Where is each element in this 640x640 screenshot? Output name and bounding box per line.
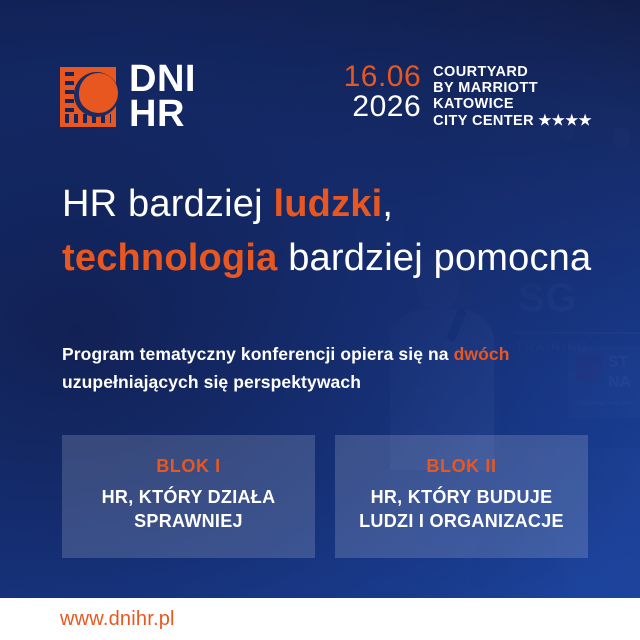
- event-date-day: 16.06: [344, 62, 422, 92]
- program-blocks: BLOK I HR, KTÓRY DZIAŁA SPRAWNIEJ BLOK I…: [62, 435, 588, 558]
- block-1-title: HR, KTÓRY DZIAŁA SPRAWNIEJ: [102, 486, 276, 532]
- footer-bar: www.dnihr.pl: [0, 598, 640, 640]
- headline-part-1: HR bardziej: [62, 183, 273, 225]
- brand-wordmark: DNI HR: [129, 62, 196, 132]
- website-url[interactable]: www.dnihr.pl: [60, 608, 175, 631]
- event-date: 16.06 2026: [344, 62, 422, 122]
- block-2-tag: BLOK II: [426, 456, 496, 477]
- block-2-title: HR, KTÓRY BUDUJE LUDZI I ORGANIZACJE: [359, 486, 564, 532]
- block-1-title-line1: HR, KTÓRY DZIAŁA: [102, 487, 276, 507]
- subtitle: Program tematyczny konferencji opiera si…: [62, 340, 532, 397]
- program-block-2[interactable]: BLOK II HR, KTÓRY BUDUJE LUDZI I ORGANIZ…: [335, 435, 588, 558]
- headline-part-2: ,: [382, 183, 393, 225]
- brand-name-line1: DNI: [129, 62, 196, 97]
- block-1-tag: BLOK I: [156, 456, 221, 477]
- headline-accent-2: technologia: [62, 237, 277, 279]
- headline-part-3: bardziej pomocna: [277, 237, 591, 279]
- brand-name-line2: HR: [129, 97, 196, 132]
- block-2-title-line1: HR, KTÓRY BUDUJE: [371, 487, 553, 507]
- event-venue: COURTYARD BY MARRIOTT KATOWICE CITY CENT…: [433, 62, 592, 129]
- venue-line-2: BY MARRIOTT: [433, 80, 592, 96]
- brand-logo[interactable]: DNI HR: [60, 62, 196, 132]
- promo-banner: SG TRAINING ST NA szkolenia - wdroże: [0, 0, 640, 640]
- content-layer: DNI HR 16.06 2026 COURTYARD BY MARRIOTT …: [0, 0, 640, 640]
- venue-line-1: COURTYARD: [433, 64, 592, 80]
- headline-accent-1: ludzki: [273, 183, 382, 225]
- subtitle-part-1: Program tematyczny konferencji opiera si…: [62, 344, 454, 364]
- gear-circle-icon: [60, 67, 116, 127]
- headline: HR bardziej ludzki, technologia bardziej…: [62, 178, 607, 286]
- subtitle-accent: dwóch: [454, 344, 510, 364]
- event-date-year: 2026: [344, 92, 422, 122]
- venue-line-4: CITY CENTER ★★★★: [433, 113, 592, 129]
- block-1-title-line2: SPRAWNIEJ: [134, 511, 243, 531]
- block-2-title-line2: LUDZI I ORGANIZACJE: [359, 511, 564, 531]
- subtitle-part-2: uzupełniających się perspektywach: [62, 372, 361, 392]
- venue-line-3: KATOWICE: [433, 96, 592, 112]
- program-block-1[interactable]: BLOK I HR, KTÓRY DZIAŁA SPRAWNIEJ: [62, 435, 315, 558]
- event-date-venue: 16.06 2026 COURTYARD BY MARRIOTT KATOWIC…: [344, 62, 592, 129]
